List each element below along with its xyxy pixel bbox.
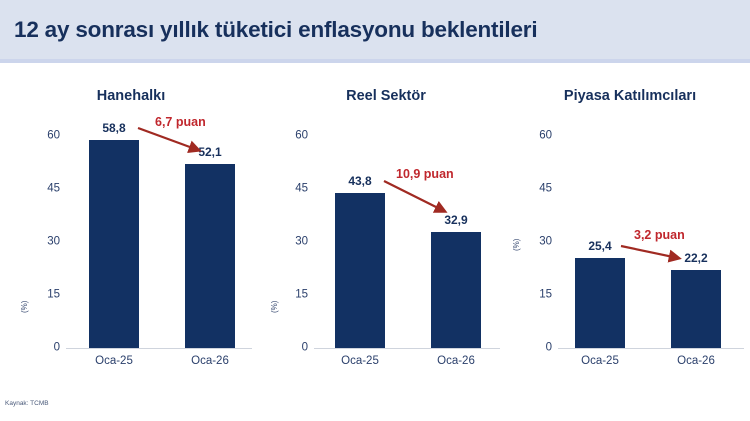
category-label-oca-25: Oca-25 [560,355,640,367]
bar-oca-25[interactable] [335,193,385,348]
y-tick-30: 30 [282,236,308,248]
category-label-oca-25: Oca-25 [74,355,154,367]
bar-value-oca-26: 32,9 [421,213,491,227]
category-label-oca-26: Oca-26 [170,355,250,367]
axis-baseline [314,348,500,349]
category-label-oca-26: Oca-26 [416,355,496,367]
bar-value-oca-26: 22,2 [661,251,731,265]
y-tick-15: 15 [282,289,308,301]
plot-area: (%) 60 45 30 15 0 43,8 32,9 Oca-25 Oca-2… [262,63,510,383]
bar-value-oca-26: 52,1 [175,145,245,159]
y-axis-label: (%) [270,301,279,313]
y-axis-label: (%) [512,239,521,251]
category-label-oca-26: Oca-26 [656,355,736,367]
chart-panel-reel-sektor: Reel Sektör (%) 60 45 30 15 0 43,8 32,9 … [262,63,510,383]
chart-panel-hanehalki: Hanehalkı (%) 60 45 30 15 0 58,8 52,1 Oc… [0,63,262,383]
chart-panel-piyasa-katilimcilari: Piyasa Katılımcıları (%) 60 45 30 15 0 2… [510,63,750,383]
delta-annotation-label: 6,7 puan [155,115,206,129]
bar-oca-26[interactable] [431,232,481,348]
y-axis-label: (%) [20,301,29,313]
delta-annotation-label: 3,2 puan [634,228,685,242]
axis-baseline [558,348,744,349]
category-label-oca-25: Oca-25 [320,355,400,367]
y-tick-15: 15 [526,289,552,301]
bar-value-oca-25: 25,4 [565,239,635,253]
page-title: 12 ay sonrası yıllık tüketici enflasyonu… [14,17,537,43]
bar-value-oca-25: 58,8 [79,121,149,135]
y-tick-45: 45 [34,183,60,195]
y-tick-60: 60 [34,130,60,142]
bar-oca-26[interactable] [185,164,235,348]
plot-area: (%) 60 45 30 15 0 58,8 52,1 Oca-25 Oca-2… [0,63,262,383]
delta-annotation-label: 10,9 puan [396,167,454,181]
y-tick-0: 0 [526,342,552,354]
y-tick-30: 30 [526,236,552,248]
bar-value-oca-25: 43,8 [325,174,395,188]
bar-oca-26[interactable] [671,270,721,348]
y-tick-15: 15 [34,289,60,301]
y-tick-0: 0 [34,342,60,354]
charts-area: Hanehalkı (%) 60 45 30 15 0 58,8 52,1 Oc… [0,63,750,383]
y-tick-60: 60 [282,130,308,142]
y-tick-0: 0 [282,342,308,354]
plot-area: (%) 60 45 30 15 0 25,4 22,2 Oca-25 Oca-2… [510,63,750,383]
source-note: Kaynak: TCMB [5,400,49,407]
bar-oca-25[interactable] [89,140,139,348]
y-tick-45: 45 [526,183,552,195]
header-band: 12 ay sonrası yıllık tüketici enflasyonu… [0,0,750,63]
y-tick-60: 60 [526,130,552,142]
y-tick-30: 30 [34,236,60,248]
bar-oca-25[interactable] [575,258,625,348]
axis-baseline [66,348,252,349]
y-tick-45: 45 [282,183,308,195]
